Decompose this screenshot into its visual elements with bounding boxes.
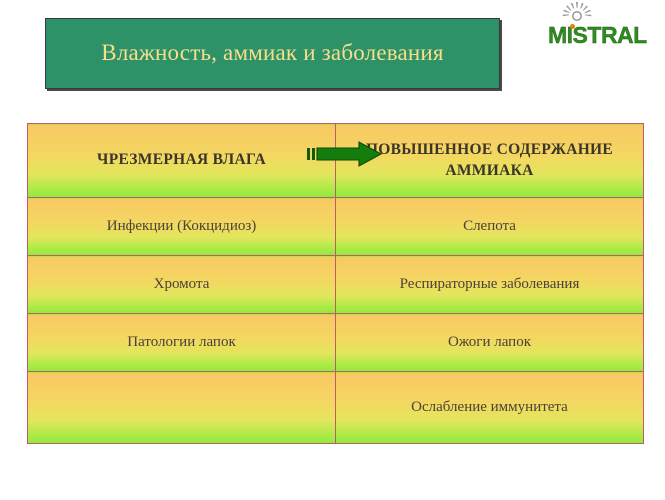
column-header-right: ПОВЫШЕННОЕ СОДЕРЖАНИЕ АММИАКА [336, 124, 644, 198]
brand-logo: MISTRAL [548, 2, 665, 50]
table-row: Хромота Респираторные заболевания [28, 256, 644, 314]
table-row: Инфекции (Кокцидиоз) Слепота [28, 198, 644, 256]
logo-wordmark-text: MISTRAL [548, 22, 647, 48]
table-cell-effect: Ослабление иммунитета [336, 372, 644, 444]
table-header-row: ЧРЕЗМЕРНАЯ ВЛАГА ПОВЫШЕННОЕ СОДЕРЖАНИЕ А… [28, 124, 644, 198]
table-cell-effect: Респираторные заболевания [336, 256, 644, 314]
page-title: Влажность, аммиак и заболевания [101, 38, 443, 68]
table-cell-effect: Слепота [336, 198, 644, 256]
table-cell-cause: Хромота [28, 256, 336, 314]
table-row: Патологии лапок Ожоги лапок [28, 314, 644, 372]
table-cell-cause: Патологии лапок [28, 314, 336, 372]
table-cell-cause [28, 372, 336, 444]
table-cell-effect: Ожоги лапок [336, 314, 644, 372]
logo-wordmark: MISTRAL [548, 22, 647, 49]
table-row: Ослабление иммунитета [28, 372, 644, 444]
condition-effects-table: ЧРЕЗМЕРНАЯ ВЛАГА ПОВЫШЕННОЕ СОДЕРЖАНИЕ А… [27, 123, 644, 444]
logo-i-dot-icon [570, 24, 575, 29]
column-header-left: ЧРЕЗМЕРНАЯ ВЛАГА [28, 124, 336, 198]
table-cell-cause: Инфекции (Кокцидиоз) [28, 198, 336, 256]
slide-title-box: Влажность, аммиак и заболевания [45, 18, 500, 89]
